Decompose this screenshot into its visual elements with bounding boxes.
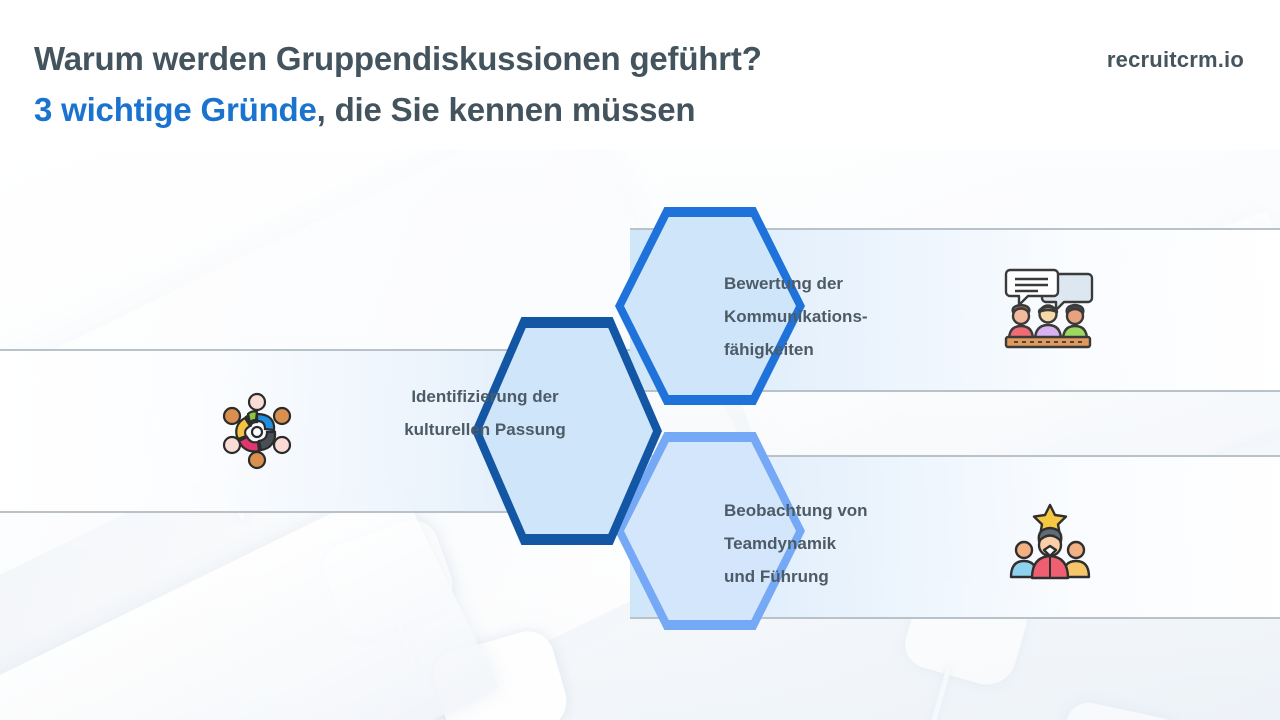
recruitcrm-logo[interactable]: recruitcrm.io xyxy=(1107,47,1244,73)
card-label-communication-skills: Bewertung der Kommunikations- fähigkeite… xyxy=(724,268,1024,366)
bg-table-shape xyxy=(0,481,499,720)
teamwork-circle-icon xyxy=(218,392,296,470)
card-line: Bewertung der xyxy=(724,268,1024,301)
card-line: Identifizierung der xyxy=(330,381,640,414)
header: Warum werden Gruppendiskussionen geführt… xyxy=(0,0,1280,150)
card-line: und Führung xyxy=(724,561,1024,594)
group-discussion-icon xyxy=(1002,268,1094,350)
infographic-slide: Warum werden Gruppendiskussionen geführt… xyxy=(0,0,1280,720)
title-rest-text: , die Sie kennen müssen xyxy=(317,91,696,128)
title-line-1: Warum werden Gruppendiskussionen geführt… xyxy=(34,34,762,85)
card-line: Teamdynamik xyxy=(724,528,1024,561)
card-label-cultural-fit: Identifizierung der kulturellen Passung xyxy=(330,381,640,447)
card-line: fähigkeiten xyxy=(724,334,1024,367)
bg-chair-shape xyxy=(429,625,574,720)
title-line-2: 3 wichtige Gründe, die Sie kennen müssen xyxy=(34,85,762,136)
bg-chair-shape xyxy=(317,513,461,644)
bg-chair-shape xyxy=(1051,699,1188,720)
page-title: Warum werden Gruppendiskussionen geführt… xyxy=(34,34,762,136)
leadership-star-icon xyxy=(1006,503,1094,581)
card-line: kulturellen Passung xyxy=(330,414,640,447)
title-accent-text: 3 wichtige Gründe xyxy=(34,91,317,128)
card-line: Kommunikations- xyxy=(724,301,1024,334)
card-line: Beobachtung von xyxy=(724,495,1024,528)
card-label-team-dynamics: Beobachtung von Teamdynamik und Führung xyxy=(724,495,1024,593)
